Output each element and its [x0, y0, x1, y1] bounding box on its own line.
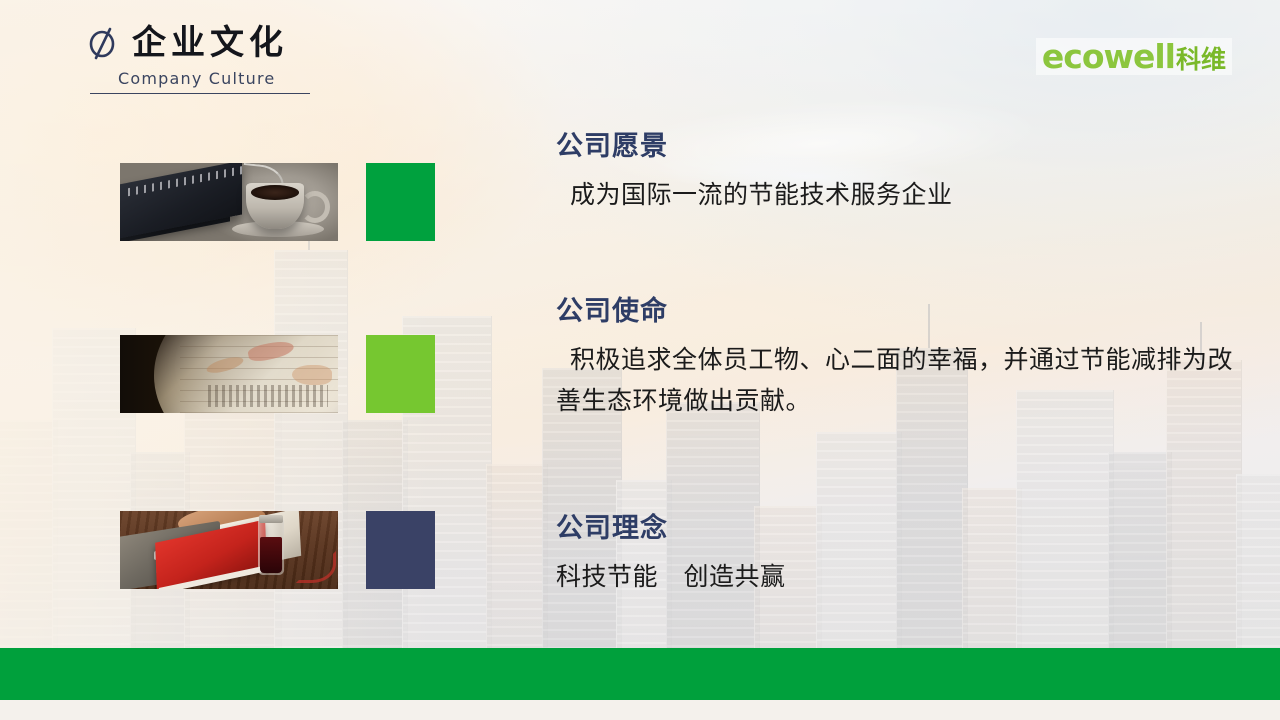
title-row: 企业文化 — [88, 26, 388, 60]
entry-heading: 公司理念 — [556, 513, 786, 545]
entry-heading: 公司使命 — [556, 296, 1246, 328]
slashed-circle-icon — [88, 26, 118, 60]
page-subtitle: Company Culture — [88, 69, 388, 88]
entry-body: 科技节能 创造共赢 — [556, 557, 786, 598]
page-title-block: 企业文化 Company Culture — [88, 26, 388, 94]
entry-heading: 公司愿景 — [556, 131, 953, 163]
swatch-light-green — [366, 335, 435, 413]
entry-body: 积极追求全体员工物、心二面的幸福，并通过节能减排为改善生态环境做出贡献。 — [556, 340, 1246, 421]
entry-mission: 公司使命 积极追求全体员工物、心二面的幸福，并通过节能减排为改善生态环境做出贡献… — [556, 296, 1246, 421]
entry-philosophy: 公司理念 科技节能 创造共赢 — [556, 513, 786, 598]
slide-company-culture: 企业文化 Company Culture — [0, 0, 1280, 720]
brand-logo-cn: 科维 — [1176, 47, 1226, 72]
brand-logo-en: ecowell — [1042, 40, 1175, 73]
title-underline — [90, 93, 310, 94]
entry-body: 成为国际一流的节能技术服务企业 — [556, 175, 953, 216]
media-row — [120, 511, 435, 589]
footer-bottom-strip — [0, 700, 1280, 720]
media-row — [120, 163, 435, 241]
swatch-navy — [366, 511, 435, 589]
footer-green-bar — [0, 648, 1280, 700]
notebook-and-coffee-photo — [120, 163, 338, 241]
brand-logo: ecowell 科维 — [1036, 38, 1232, 75]
page-title: 企业文化 — [132, 26, 288, 60]
globe-map-photo — [120, 335, 338, 413]
laptop-notebook-jar-photo — [120, 511, 338, 589]
entry-vision: 公司愿景 成为国际一流的节能技术服务企业 — [556, 131, 953, 216]
media-row — [120, 335, 435, 413]
swatch-green — [366, 163, 435, 241]
content-column: 公司愿景 成为国际一流的节能技术服务企业 公司使命 积极追求全体员工物、心二面的… — [556, 0, 1256, 640]
